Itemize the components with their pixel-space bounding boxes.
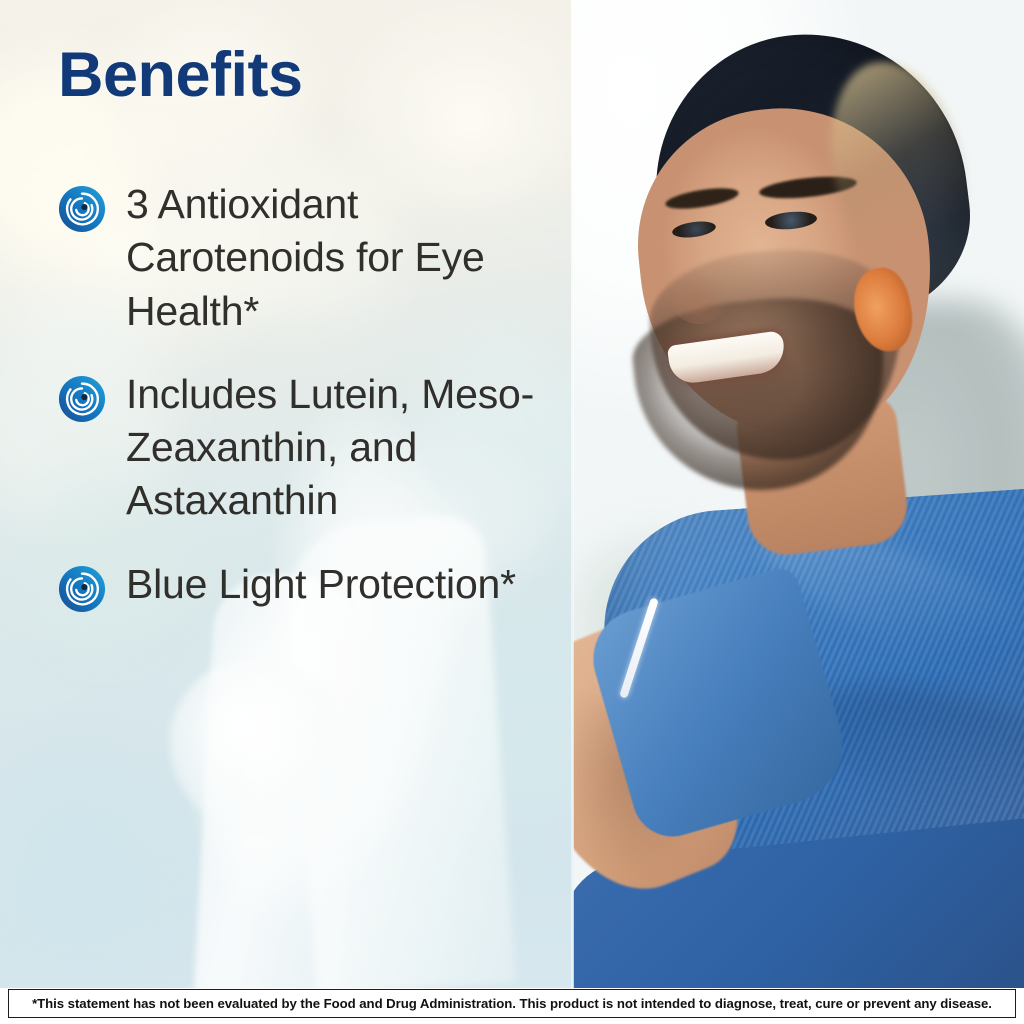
disclaimer-bar: *This statement has not been evaluated b… xyxy=(8,989,1016,1018)
benefits-panel: Benefits xyxy=(0,0,573,988)
benefits-list: 3 Antioxidant Carotenoids for Eye Health… xyxy=(0,178,573,643)
eye-spiral-icon xyxy=(58,185,106,233)
list-item: Blue Light Protection* xyxy=(0,558,573,613)
eye-spiral-icon xyxy=(58,565,106,613)
list-item-label: 3 Antioxidant Carotenoids for Eye Health… xyxy=(126,178,546,338)
product-benefits-graphic: Benefits xyxy=(0,0,1024,1024)
eye-spiral-icon xyxy=(58,375,106,423)
list-item-label: Blue Light Protection* xyxy=(126,558,516,611)
disclaimer-text: *This statement has not been evaluated b… xyxy=(32,996,992,1011)
panel-divider xyxy=(571,0,574,988)
page-title: Benefits xyxy=(58,44,303,107)
list-item: Includes Lutein, Meso-Zeaxanthin, and As… xyxy=(0,368,573,528)
list-item-label: Includes Lutein, Meso-Zeaxanthin, and As… xyxy=(126,368,546,528)
list-item: 3 Antioxidant Carotenoids for Eye Health… xyxy=(0,178,573,338)
lifestyle-photo xyxy=(573,0,1024,988)
